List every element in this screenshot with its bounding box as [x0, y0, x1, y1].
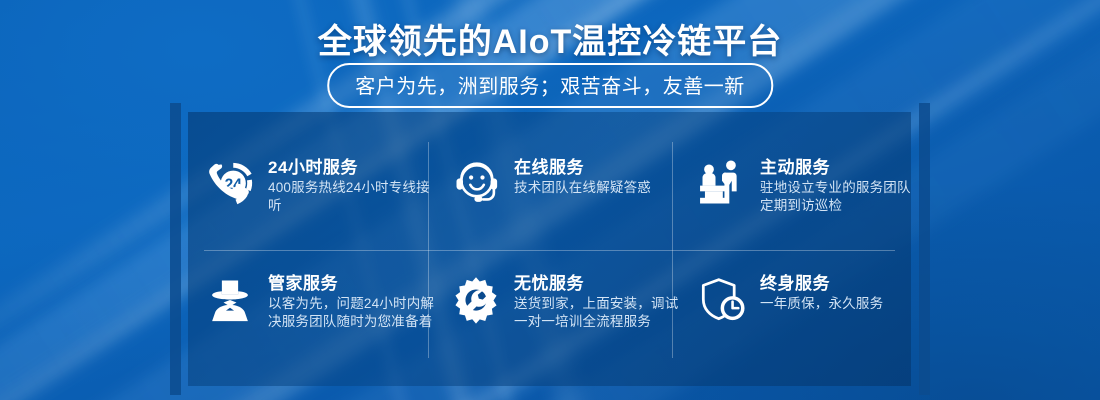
services-grid: 24 24小时服务 400服务热线24小时专线接听	[188, 112, 911, 386]
service-title: 24小时服务	[268, 157, 438, 179]
gear-wrench-icon	[450, 274, 502, 326]
service-item-proactive[interactable]: 主动服务 驻地设立专业的服务团队定期到访巡检	[696, 156, 911, 215]
phone-24h-icon: 24	[204, 158, 256, 210]
shield-clock-icon	[696, 274, 748, 326]
service-desc: 驻地设立专业的服务团队定期到访巡检	[760, 179, 911, 215]
services-panel: 24 24小时服务 400服务热线24小时专线接听	[188, 112, 911, 386]
service-title: 管家服务	[268, 273, 438, 295]
service-desc: 送货到家，上面安装，调试一对一培训全流程服务	[514, 295, 684, 331]
service-item-worryfree[interactable]: 无忧服务 送货到家，上面安装，调试一对一培训全流程服务	[450, 272, 684, 331]
service-item-lifetime[interactable]: 终身服务 一年质保，永久服务	[696, 272, 883, 326]
service-text: 在线服务 技术团队在线解疑答惑	[514, 156, 651, 197]
service-text: 主动服务 驻地设立专业的服务团队定期到访巡检	[760, 156, 911, 215]
service-item-online[interactable]: 在线服务 技术团队在线解疑答惑	[450, 156, 651, 210]
service-text: 管家服务 以客为先，问题24小时内解决服务团队随时为您准备着	[268, 272, 438, 331]
service-title: 终身服务	[760, 273, 883, 295]
page-title: 全球领先的AIoT温控冷链平台	[0, 14, 1100, 63]
tagline-pill: 客户为先，洲到服务；艰苦奋斗，友善一新	[327, 63, 773, 108]
frame-bar-left	[170, 103, 181, 395]
promo-banner: 全球领先的AIoT温控冷链平台 客户为先，洲到服务；艰苦奋斗，友善一新 24	[0, 0, 1100, 400]
service-item-butler[interactable]: 管家服务 以客为先，问题24小时内解决服务团队随时为您准备着	[204, 272, 438, 331]
service-item-24h[interactable]: 24 24小时服务 400服务热线24小时专线接听	[204, 156, 438, 215]
butler-tophat-icon	[204, 274, 256, 326]
service-counter-people-icon	[696, 158, 748, 210]
service-title: 主动服务	[760, 157, 911, 179]
service-title: 无忧服务	[514, 273, 684, 295]
service-desc: 技术团队在线解疑答惑	[514, 179, 651, 197]
headset-smiley-icon	[450, 158, 502, 210]
service-title: 在线服务	[514, 157, 651, 179]
service-desc: 一年质保，永久服务	[760, 295, 883, 313]
service-desc: 以客为先，问题24小时内解决服务团队随时为您准备着	[268, 295, 438, 331]
service-text: 无忧服务 送货到家，上面安装，调试一对一培训全流程服务	[514, 272, 684, 331]
service-text: 24小时服务 400服务热线24小时专线接听	[268, 156, 438, 215]
frame-bar-right	[919, 103, 930, 395]
service-desc: 400服务热线24小时专线接听	[268, 179, 438, 215]
tagline-text: 客户为先，洲到服务；艰苦奋斗，友善一新	[355, 70, 745, 99]
service-text: 终身服务 一年质保，永久服务	[760, 272, 883, 313]
